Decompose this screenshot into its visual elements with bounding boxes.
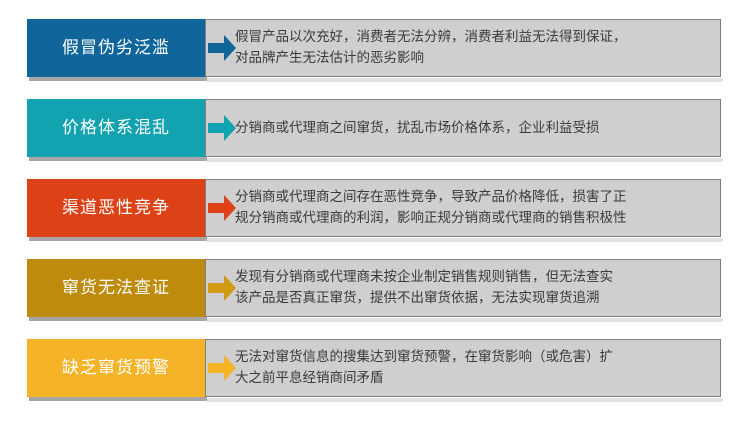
description-text: 分销商或代理商之间存在恶性竞争，导致产品价格降低，损害了正 规分销商或代理商的利…	[235, 179, 713, 237]
label-text: 渠道恶性竞争	[62, 200, 170, 217]
description-box-shadow	[207, 78, 723, 82]
description-box-shadow	[207, 158, 723, 162]
label-box-2[interactable]: 渠道恶性竞争	[27, 179, 205, 237]
diagram-row: 窜货无法查证 发现有分销商或代理商未按企业制定销售规则销售，但无法查实 该产品是…	[0, 259, 749, 323]
label-box-shadow	[29, 237, 207, 241]
diagram-row: 缺乏窜货预警 无法对窜货信息的搜集达到窜货预警，在窜货影响（或危害）扩 大之前平…	[0, 339, 749, 403]
arrow-icon	[208, 355, 236, 381]
arrow-icon	[208, 35, 236, 61]
arrow-icon	[208, 115, 236, 141]
description-text: 假冒产品以次充好，消费者无法分辨，消费者利益无法得到保证， 对品牌产生无法估计的…	[235, 19, 713, 77]
description-box-shadow	[207, 318, 723, 322]
diagram-row: 价格体系混乱 分销商或代理商之间窜货，扰乱市场价格体系，企业利益受损	[0, 99, 749, 163]
label-text: 价格体系混乱	[62, 120, 170, 137]
label-box-4[interactable]: 缺乏窜货预警	[27, 339, 205, 397]
label-box-shadow	[29, 157, 207, 161]
description-text: 分销商或代理商之间窜货，扰乱市场价格体系，企业利益受损	[235, 99, 713, 157]
description-text: 无法对窜货信息的搜集达到窜货预警，在窜货影响（或危害）扩 大之前平息经销商间矛盾	[235, 339, 713, 397]
label-text: 窜货无法查证	[62, 280, 170, 297]
label-box-1[interactable]: 价格体系混乱	[27, 99, 205, 157]
problem-list-diagram: 假冒伪劣泛滥 假冒产品以次充好，消费者无法分辨，消费者利益无法得到保证， 对品牌…	[0, 0, 749, 425]
description-text: 发现有分销商或代理商未按企业制定销售规则销售，但无法查实 该产品是否真正窜货，提…	[235, 259, 713, 317]
label-text: 假冒伪劣泛滥	[62, 40, 170, 57]
arrow-icon	[208, 195, 236, 221]
label-text: 缺乏窜货预警	[62, 360, 170, 377]
description-box-shadow	[207, 238, 723, 242]
diagram-row: 假冒伪劣泛滥 假冒产品以次充好，消费者无法分辨，消费者利益无法得到保证， 对品牌…	[0, 19, 749, 83]
label-box-shadow	[29, 397, 207, 401]
description-box-shadow	[207, 398, 723, 402]
label-box-0[interactable]: 假冒伪劣泛滥	[27, 19, 205, 77]
label-box-3[interactable]: 窜货无法查证	[27, 259, 205, 317]
arrow-icon	[208, 275, 236, 301]
diagram-row: 渠道恶性竞争 分销商或代理商之间存在恶性竞争，导致产品价格降低，损害了正 规分销…	[0, 179, 749, 243]
label-box-shadow	[29, 77, 207, 81]
label-box-shadow	[29, 317, 207, 321]
